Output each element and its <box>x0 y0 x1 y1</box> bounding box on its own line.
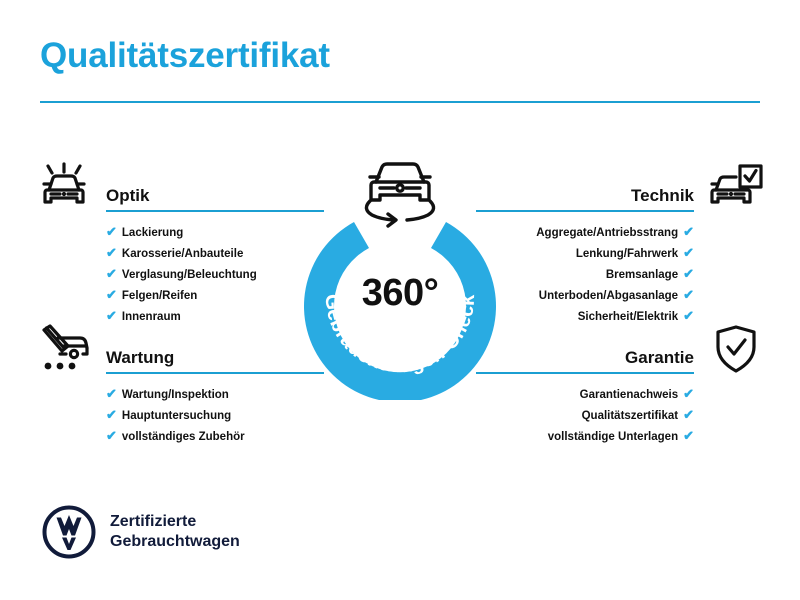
list-item-label: Felgen/Reifen <box>122 290 197 302</box>
car-service-record-icon <box>36 324 92 374</box>
list-item-label: vollständiges Zubehör <box>122 431 245 443</box>
car-front-lights-icon <box>36 162 92 212</box>
shield-check-icon <box>708 324 764 374</box>
list-item-label: Aggregate/Antriebsstrang <box>536 227 678 239</box>
certificate-sheet: Qualitätszertifikat <box>0 0 800 600</box>
car-checkbox-icon <box>708 162 764 212</box>
check-icon: ✔ <box>106 224 117 239</box>
list-item: ✔Lackierung <box>106 222 324 243</box>
page-title: Qualitätszertifikat <box>40 34 330 78</box>
section-title: Wartung <box>106 348 174 368</box>
list-item: ✔Wartung/Inspektion <box>106 384 324 405</box>
list-item-label: Garantienachweis <box>580 389 678 401</box>
list-item: Garantienachweis✔ <box>476 384 694 405</box>
list-item: Lenkung/Fahrwerk✔ <box>476 243 694 264</box>
check-icon: ✔ <box>683 386 694 401</box>
list-item: ✔Hauptuntersuchung <box>106 405 324 426</box>
check-icon: ✔ <box>683 245 694 260</box>
list-item: Bremsanlage✔ <box>476 264 694 285</box>
list-item-label: Qualitätszertifikat <box>582 410 679 422</box>
list-item: Qualitätszertifikat✔ <box>476 405 694 426</box>
footer-brand-text: ZertifizierteGebrauchtwagen <box>110 512 240 552</box>
check-icon: ✔ <box>683 266 694 281</box>
list-item-label: Karosserie/Anbauteile <box>122 248 243 260</box>
checklist-technik: Aggregate/Antriebsstrang✔ Lenkung/Fahrwe… <box>476 222 766 327</box>
section-header: Technik <box>476 160 766 216</box>
list-item: Unterboden/Abgasanlage✔ <box>476 285 694 306</box>
check-icon: ✔ <box>106 428 117 443</box>
section-title: Technik <box>631 186 694 206</box>
list-item-label: Hauptuntersuchung <box>122 410 231 422</box>
list-item: ✔Verglasung/Beleuchtung <box>106 264 324 285</box>
checklist-garantie: Garantienachweis✔ Qualitätszertifikat✔ v… <box>476 384 766 447</box>
vw-logo <box>42 505 96 559</box>
check-icon: ✔ <box>106 407 117 422</box>
list-item-label: vollständige Unterlagen <box>548 431 678 443</box>
check-icon: ✔ <box>106 266 117 281</box>
footer-line-1: Zertifizierte <box>110 513 196 530</box>
section-wartung: Wartung ✔Wartung/Inspektion ✔Hauptunters… <box>34 322 324 447</box>
list-item-label: Bremsanlage <box>606 269 678 281</box>
car-rotate-icon <box>352 157 448 231</box>
list-item-label: Lenkung/Fahrwerk <box>576 248 678 260</box>
list-item: vollständige Unterlagen✔ <box>476 426 694 447</box>
check-icon: ✔ <box>683 428 694 443</box>
list-item: ✔Karosserie/Anbauteile <box>106 243 324 264</box>
section-divider <box>106 372 324 374</box>
check-icon: ✔ <box>106 386 117 401</box>
check-icon: ✔ <box>683 407 694 422</box>
section-divider <box>476 210 694 212</box>
check-icon: ✔ <box>683 224 694 239</box>
section-header: Wartung <box>34 322 324 378</box>
section-garantie: Garantie Garantienachweis✔ Qualitätszert… <box>476 322 766 447</box>
badge-center-label: 360° <box>298 272 502 315</box>
list-item-label: Wartung/Inspektion <box>122 389 229 401</box>
section-divider <box>476 372 694 374</box>
section-title: Garantie <box>625 348 694 368</box>
checklist-wartung: ✔Wartung/Inspektion ✔Hauptuntersuchung ✔… <box>34 384 324 447</box>
list-item-label: Unterboden/Abgasanlage <box>539 290 678 302</box>
check-icon: ✔ <box>106 287 117 302</box>
section-technik: Technik Aggregate/Antriebsstrang✔ Lenkun… <box>476 160 766 327</box>
check-icon: ✔ <box>106 245 117 260</box>
check-icon: ✔ <box>683 308 694 323</box>
title-divider <box>40 101 760 103</box>
list-item: ✔Felgen/Reifen <box>106 285 324 306</box>
check-icon: ✔ <box>106 308 117 323</box>
section-header: Optik <box>34 160 324 216</box>
footer-line-2: Gebrauchtwagen <box>110 533 240 550</box>
list-item: Aggregate/Antriebsstrang✔ <box>476 222 694 243</box>
section-divider <box>106 210 324 212</box>
section-header: Garantie <box>476 322 766 378</box>
section-optik: Optik ✔Lackierung ✔Karosserie/Anbauteile… <box>34 160 324 327</box>
footer-brand-lockup: ZertifizierteGebrauchtwagen <box>42 505 240 559</box>
list-item-label: Verglasung/Beleuchtung <box>122 269 257 281</box>
list-item-label: Lackierung <box>122 227 183 239</box>
checklist-optik: ✔Lackierung ✔Karosserie/Anbauteile ✔Verg… <box>34 222 324 327</box>
section-title: Optik <box>106 186 149 206</box>
check-icon: ✔ <box>683 287 694 302</box>
list-item: ✔vollständiges Zubehör <box>106 426 324 447</box>
